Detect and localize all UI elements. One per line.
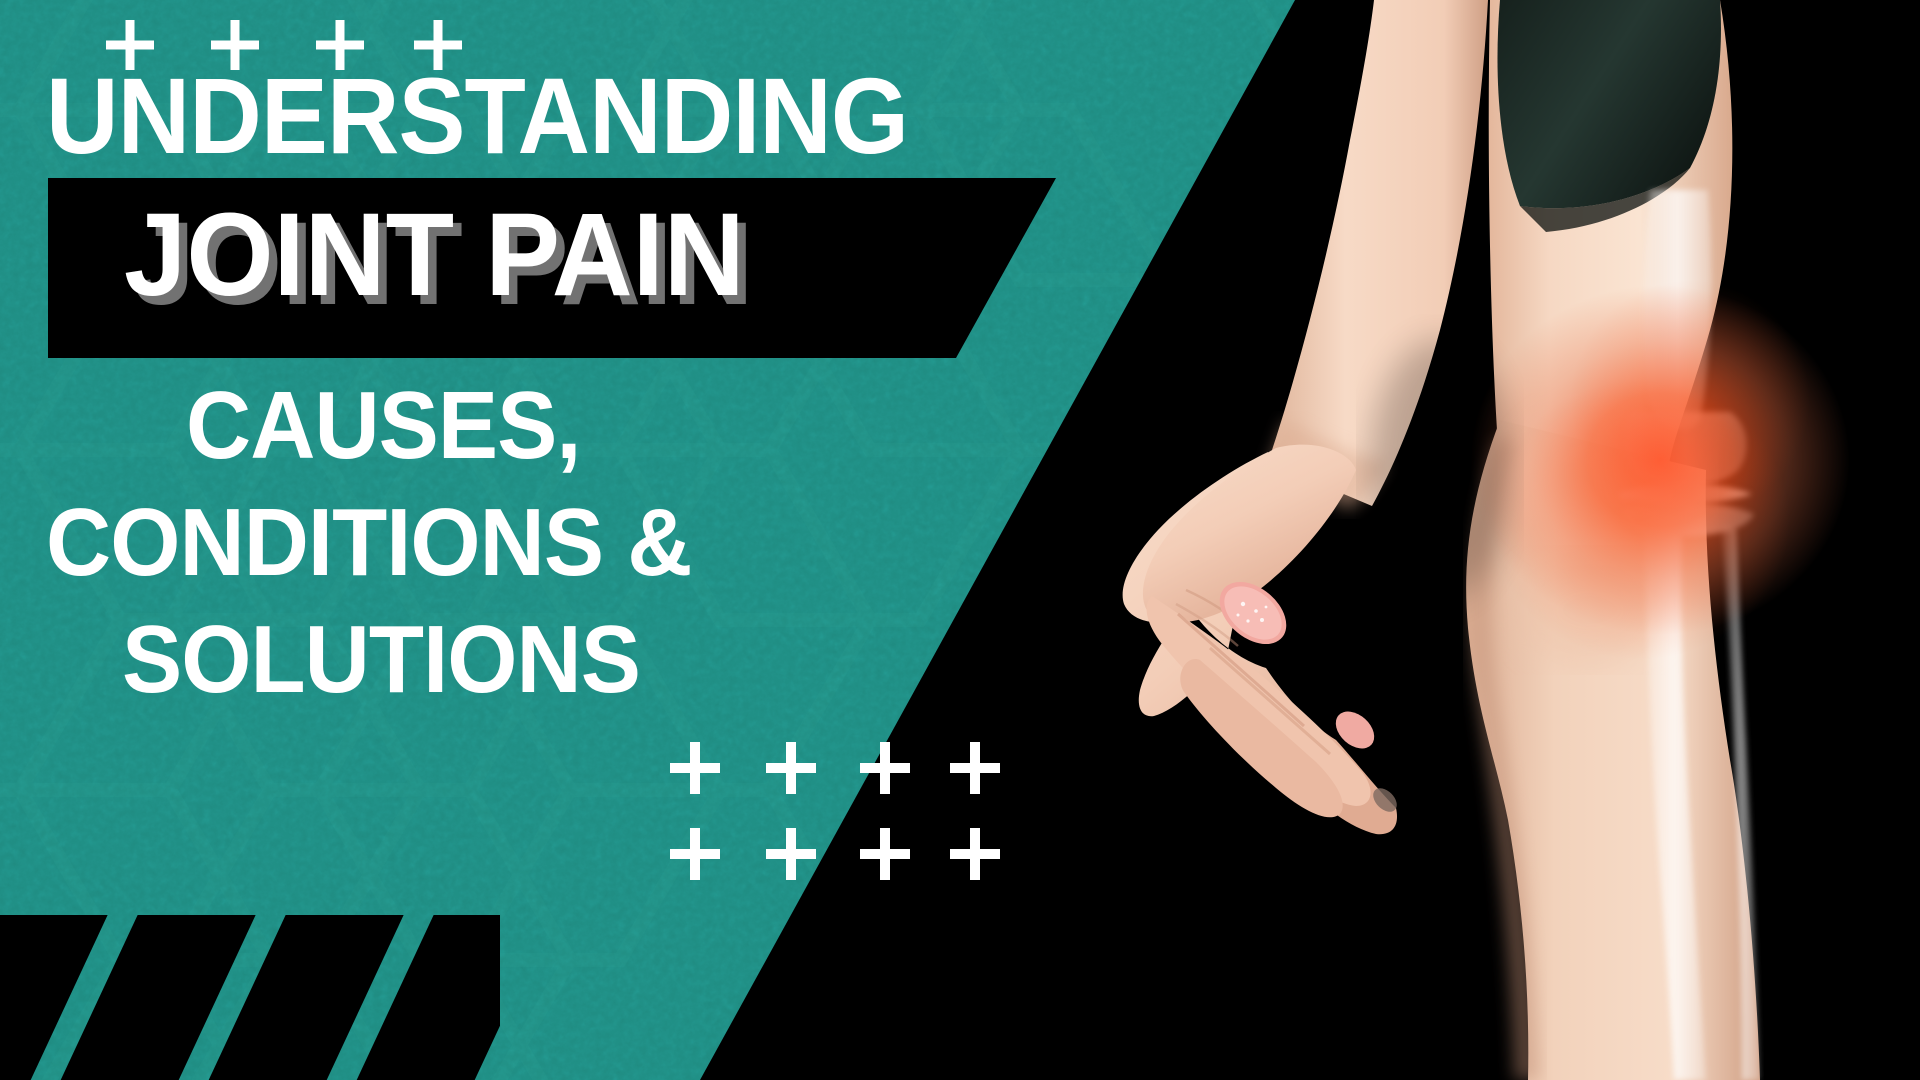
thumbnail-canvas: UNDERSTANDING JOINT PAIN CAUSES, CONDITI… (0, 0, 1920, 1080)
headline-top: UNDERSTANDING (46, 62, 908, 170)
plus-icon-bottom-3 (860, 742, 910, 794)
plus-icon-bottom-5 (670, 828, 720, 880)
plus-icon-bottom-1 (670, 742, 720, 794)
diagonal-stripes-decoration (0, 915, 500, 1080)
plus-icon-bottom-2 (766, 742, 816, 794)
subhead-line-2: CONDITIONS & (46, 495, 986, 590)
subhead-line-1: CAUSES, (186, 378, 1126, 473)
headline-joint-pain: JOINT PAIN (124, 196, 745, 314)
plus-icon-bottom-7 (860, 828, 910, 880)
plus-icon-bottom-6 (766, 828, 816, 880)
plus-icon-bottom-4 (950, 742, 1000, 794)
subhead-line-3: SOLUTIONS (122, 612, 1062, 707)
plus-icon-bottom-8 (950, 828, 1000, 880)
